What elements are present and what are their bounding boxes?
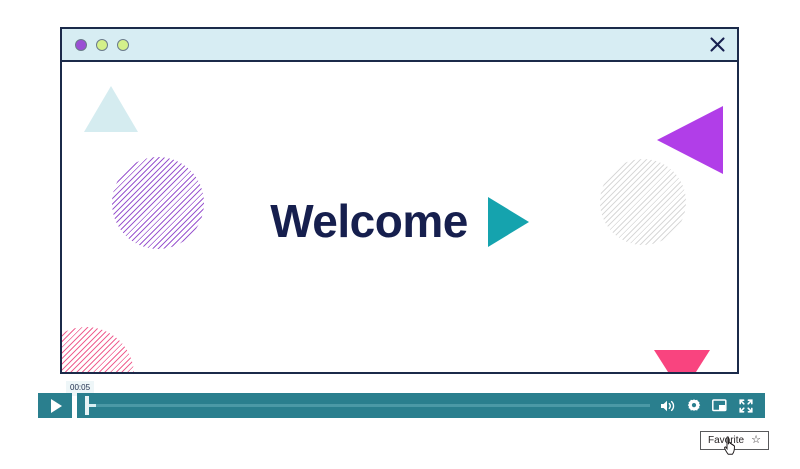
progress-area [77, 393, 765, 418]
close-icon [709, 36, 726, 53]
play-triangle-icon [488, 197, 529, 247]
triangle-purple-icon [657, 106, 723, 174]
progress-fill [89, 404, 96, 407]
star-icon: ☆ [751, 435, 761, 446]
settings-button[interactable] [686, 398, 701, 413]
fullscreen-button[interactable] [738, 398, 753, 413]
welcome-block: Welcome [62, 195, 737, 247]
close-button[interactable] [697, 28, 737, 61]
play-icon [51, 399, 62, 413]
picture-in-picture-icon [712, 399, 727, 412]
browser-window: Welcome [60, 27, 739, 374]
player-right-controls [660, 398, 757, 413]
traffic-light-green-2[interactable] [117, 39, 129, 51]
settings-gear-icon [687, 399, 701, 413]
video-stage: Welcome [62, 62, 737, 372]
favorite-label: Favorite [708, 435, 744, 446]
traffic-light-purple[interactable] [75, 39, 87, 51]
picture-in-picture-button[interactable] [712, 398, 727, 413]
triangle-pink-icon [654, 350, 710, 372]
progress-handle[interactable] [85, 396, 89, 415]
player-control-bar [38, 393, 765, 418]
favorite-button[interactable]: Favorite ☆ [700, 431, 769, 450]
play-button[interactable] [38, 393, 72, 418]
traffic-light-green-1[interactable] [96, 39, 108, 51]
window-controls-dots [75, 39, 129, 51]
progress-scrubber[interactable] [89, 404, 650, 407]
triangle-cyan-icon [84, 86, 138, 132]
volume-button[interactable] [660, 398, 675, 413]
window-title-bar [62, 29, 737, 62]
page-title: Welcome [270, 198, 468, 244]
circle-striped-pink-icon [62, 327, 134, 372]
volume-icon [660, 399, 675, 413]
fullscreen-icon [739, 399, 753, 413]
